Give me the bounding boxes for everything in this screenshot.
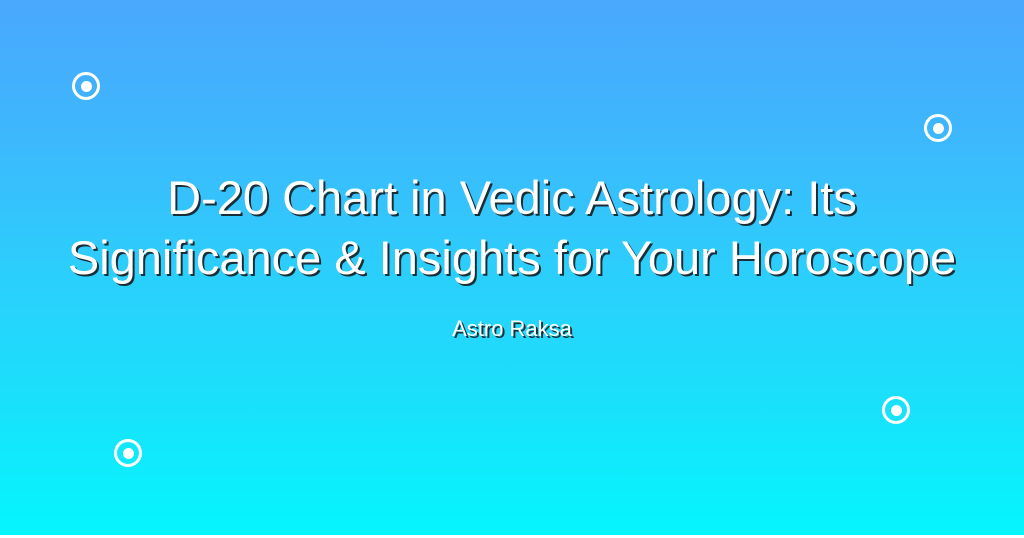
slide-title-line-1: D-20 Chart in Vedic Astrology: Its — [167, 171, 857, 224]
slide-text-block: D-20 Chart in Vedic Astrology: Its Signi… — [0, 168, 1024, 342]
slide-subtitle: Astro Raksa — [20, 288, 1004, 342]
slide-title: D-20 Chart in Vedic Astrology: Its Signi… — [20, 168, 1004, 288]
ring-dot-icon-top-right — [924, 114, 952, 142]
slide-title-line-2: Significance & Insights for Your Horosco… — [68, 231, 956, 284]
ring-dot-icon-bottom-right — [882, 396, 910, 424]
ring-dot-icon-top-left — [72, 72, 100, 100]
ring-dot-icon-bottom-left — [114, 439, 142, 467]
title-slide: D-20 Chart in Vedic Astrology: Its Signi… — [0, 0, 1024, 538]
